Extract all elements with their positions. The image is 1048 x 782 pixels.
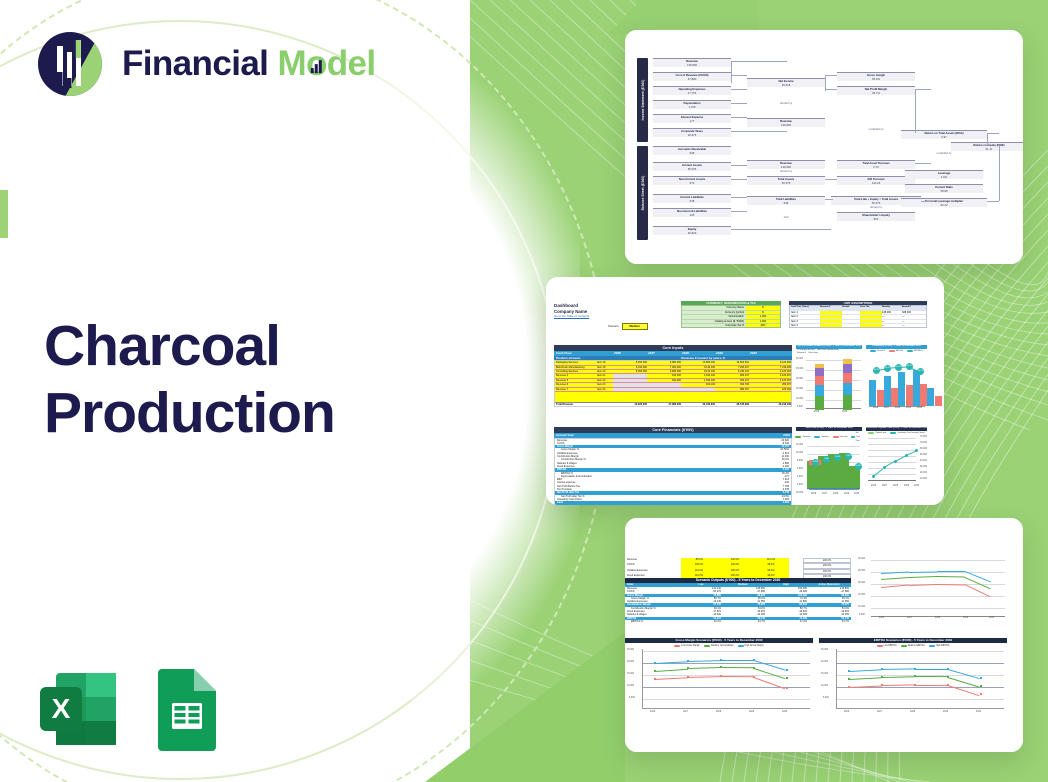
- node-shareholders-equity: Shareholder's Equity 800: [837, 212, 915, 221]
- chart-investment-payback: Investment Payback Chart ($'000) - 5 Yea…: [866, 427, 927, 503]
- brand-o-glyph: o: [306, 44, 327, 84]
- wire: [999, 145, 1000, 201]
- wire: [731, 211, 747, 212]
- page-title-line1: Charcoal: [44, 313, 335, 380]
- scenario-selector[interactable]: Medium: [622, 323, 648, 330]
- table-of-contents-link[interactable]: Go to the Table of Contents: [554, 314, 674, 318]
- wire: [921, 201, 931, 202]
- page-title-line2: Production: [44, 380, 335, 447]
- wire: [731, 103, 747, 104]
- node-non-current-liabilities: Non-Current Liabilities 105: [653, 208, 731, 217]
- chart-ebitda-scenarios: EBITDA Scenarios ($'000) - 5 Years to De…: [819, 638, 1007, 709]
- node-total-assets: Total Assets 50,576: [747, 176, 825, 185]
- node-equity: Equity 49,629: [653, 226, 731, 235]
- screenshot-card-scenario-outputs[interactable]: Revenue-85.0%100.0%110.0%100.0% COGS105.…: [625, 518, 1023, 752]
- screenshot-card-dashboard[interactable]: Dashboard Company Name Go to the Table o…: [546, 277, 944, 505]
- node-current-liabilities: Current Liabilities 648: [653, 194, 731, 203]
- node-revenue: Revenue 136,800: [653, 58, 731, 67]
- slide-canvas: Financial Model Charcoal Production X: [0, 0, 1048, 782]
- node-net-profit-margin: Net Profit Margin 35.7%: [837, 86, 915, 95]
- node-total-liabilities: Total Liabilities 948: [747, 196, 825, 205]
- node-financial-leverage-multiplier: Financial Leverage multiplier 63.22: [901, 198, 987, 207]
- excel-letter-x: X: [52, 693, 71, 724]
- core-inputs-table: Packaging ServicesItem 188,453,0009,980,…: [554, 360, 792, 407]
- rail-balance-sheet: Balance Sheet ($'000): [637, 146, 648, 240]
- wire: [731, 89, 747, 90]
- node-cogs: Cost of Revenue (COGS) 47,880: [653, 72, 731, 81]
- wire: [915, 89, 931, 133]
- node-revenue-denominator: Revenue 136,800: [747, 118, 825, 127]
- wire: [825, 199, 833, 200]
- rail-income-statement: Income Statement ($'000): [637, 58, 648, 142]
- brand-name-part1: Financial: [122, 44, 268, 83]
- left-content-column: Financial Model Charcoal Production X: [0, 0, 470, 782]
- scenario-label: Scenario: [608, 325, 619, 328]
- brand-name: Financial Model: [122, 44, 376, 84]
- google-sheets-icon[interactable]: [150, 665, 224, 753]
- file-format-icons: X: [34, 665, 224, 753]
- wire: [915, 163, 931, 164]
- node-depreciation: Depreciation 1,765: [653, 100, 731, 109]
- wire: [731, 165, 747, 166]
- dupont-model-diagram: Income Statement ($'000) Balance Sheet (…: [633, 56, 1019, 260]
- brand-o-minibars-icon: [311, 59, 322, 73]
- node-interest-expense: Interest Expense 177: [653, 114, 731, 123]
- node-corporate-taxes: Corporate Taxes 20,676: [653, 128, 731, 137]
- cashflow-plot: 12,000 10,000 8,000 6,000 4,000 2,000 (2…: [807, 444, 860, 500]
- wire: [731, 75, 747, 76]
- node-gross-margin: Gross margin 65.0%: [837, 72, 915, 81]
- dashboard-sheet: Dashboard Company Name Go to the Table o…: [546, 277, 944, 505]
- chart-cash-flow: Cash Flow ($'000) - 5 Years to December …: [796, 427, 862, 503]
- chart-gross-margin-scenarios: Gross Margin Scenarios ($'000) - 5 Years…: [625, 638, 813, 709]
- currency-panel: CURRENCY, DENOMINATION & TAX Currency Na…: [681, 301, 781, 328]
- scenario-sheet: Revenue-85.0%100.0%110.0%100.0% COGS105.…: [625, 518, 1023, 752]
- circular-bar-chart-logo-icon: [34, 28, 106, 100]
- payback-plot: 75,000 70,000 60,000 50,000 40,000 30,00…: [868, 436, 916, 492]
- scenario-outputs-table: Scenario Outputs ($'000) - 5 Years to De…: [625, 578, 851, 623]
- wire: [731, 131, 787, 132]
- wire: [731, 61, 787, 83]
- wire: [825, 89, 837, 90]
- wire: [731, 117, 747, 118]
- brand-name-part2-post: del: [327, 44, 376, 83]
- core-financials-table: Revenue22,820 COGS-8,546 Gross Margin14,…: [554, 438, 792, 505]
- wire: [731, 229, 831, 230]
- node-leverage: Leverage 1.9%: [905, 170, 983, 179]
- top5-plot: 30,000 25,000 20,000 15,000 10,000 5,000: [806, 356, 861, 412]
- stacked-bar: [815, 364, 824, 410]
- brand-name-part2-pre: M: [277, 44, 306, 83]
- node-operating-expenses: Operating Expenses 17,754: [653, 86, 731, 95]
- wire: [731, 197, 747, 198]
- page-title: Charcoal Production: [44, 313, 335, 446]
- wire: [987, 201, 999, 202]
- chart-profitability: Profitability ($'000) - 5 Years to Decem…: [866, 345, 927, 423]
- node-total-asset-turnover: Total Asset Turnover 2.70: [837, 160, 915, 169]
- stacked-bar: [843, 359, 852, 410]
- chart-top5-revenue-streams: Top 5 Revenue Streams ($'000) - 5 Years …: [796, 345, 862, 423]
- node-roa: Return on Total Assets (ROA) 0.97: [901, 130, 987, 139]
- node-ar-turnover: A/R Turnover 144.24: [837, 176, 915, 185]
- currency-rows: Currency Name$ Currency Symbol$ Denomina…: [681, 305, 781, 328]
- screenshot-card-financial-model-diagram[interactable]: Income Statement ($'000) Balance Sheet (…: [625, 30, 1023, 264]
- chart-upper-right: 30,000 25,000 20,000 15,000 10,000 5,000: [857, 552, 1007, 630]
- wire: [825, 179, 837, 180]
- wire: [731, 179, 747, 180]
- node-accounts-receivable: Accounts Receivable 948: [653, 146, 731, 155]
- node-current-assets: Current Assets 50,005: [653, 162, 731, 171]
- microsoft-excel-icon[interactable]: X: [34, 665, 122, 753]
- node-current-ratio: Current Ratio 58.98: [905, 184, 983, 193]
- unit-assumptions-panel: UNIT ASSUMPTIONS Lead Time (Years) Reven…: [789, 301, 927, 328]
- core-inputs-section: Core Inputs Cash Flow 2026 2027 2028 202…: [554, 345, 792, 407]
- node-revenue-turnover: Revenue 136,800: [747, 160, 825, 169]
- profitability-plot: 36.3% 38.1% 39.4% 40.2% 34.1% 2026 2027 …: [869, 354, 925, 412]
- brand-lockup: Financial Model: [34, 28, 376, 100]
- core-financials-section: Core Financials ($'000) Annual Year2026 …: [554, 427, 792, 505]
- wire: [987, 133, 999, 145]
- node-non-current-assets: Non-Current Assets 570: [653, 176, 731, 185]
